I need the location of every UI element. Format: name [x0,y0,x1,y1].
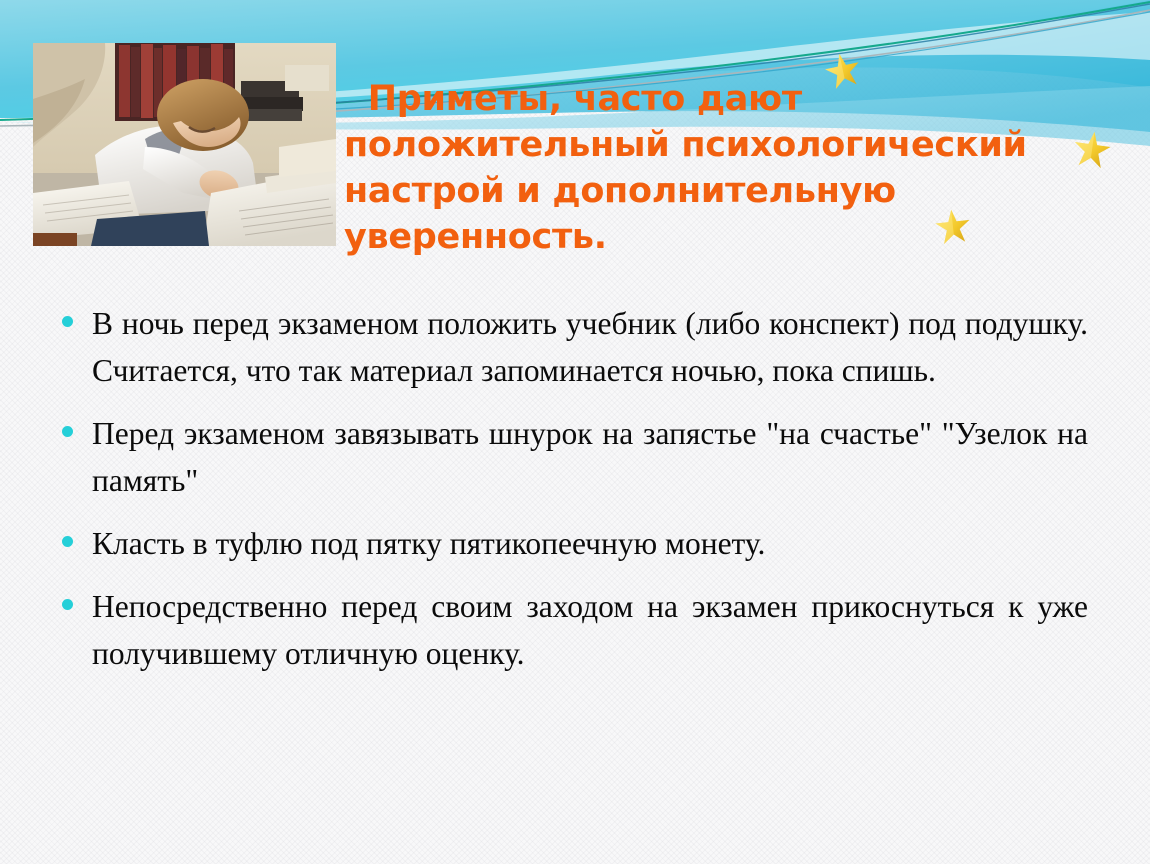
bullet-text-coin: Класть в туфлю под пятку пятикопеечную м… [92,520,1088,567]
bullet-dot-icon [62,599,73,610]
list-item: В ночь перед экзаменом положить учебник … [62,300,1088,394]
list-item: Класть в туфлю под пятку пятикопеечную м… [62,520,1088,567]
list-item: Перед экзаменом завязывать шнурок на зап… [62,410,1088,504]
bullet-text-string: Перед экзаменом завязывать шнурок на зап… [92,410,1088,504]
student-photo [33,43,336,246]
bullet-list: В ночь перед экзаменом положить учебник … [62,300,1088,693]
list-item: Непосредственно перед своим заходом на э… [62,583,1088,677]
slide-title: Приметы, часто дают положительный психол… [344,76,1044,260]
bullet-dot-icon [62,316,73,327]
bullet-dot-icon [62,426,73,437]
star-icon-right-upper [1072,130,1112,175]
bullet-dot-icon [62,536,73,547]
bullet-text-touch: Непосредственно перед своим заходом на э… [92,583,1088,677]
bullet-text-pillow: В ночь перед экзаменом положить учебник … [92,300,1088,394]
presentation-slide: Приметы, часто дают положительный психол… [0,0,1150,864]
